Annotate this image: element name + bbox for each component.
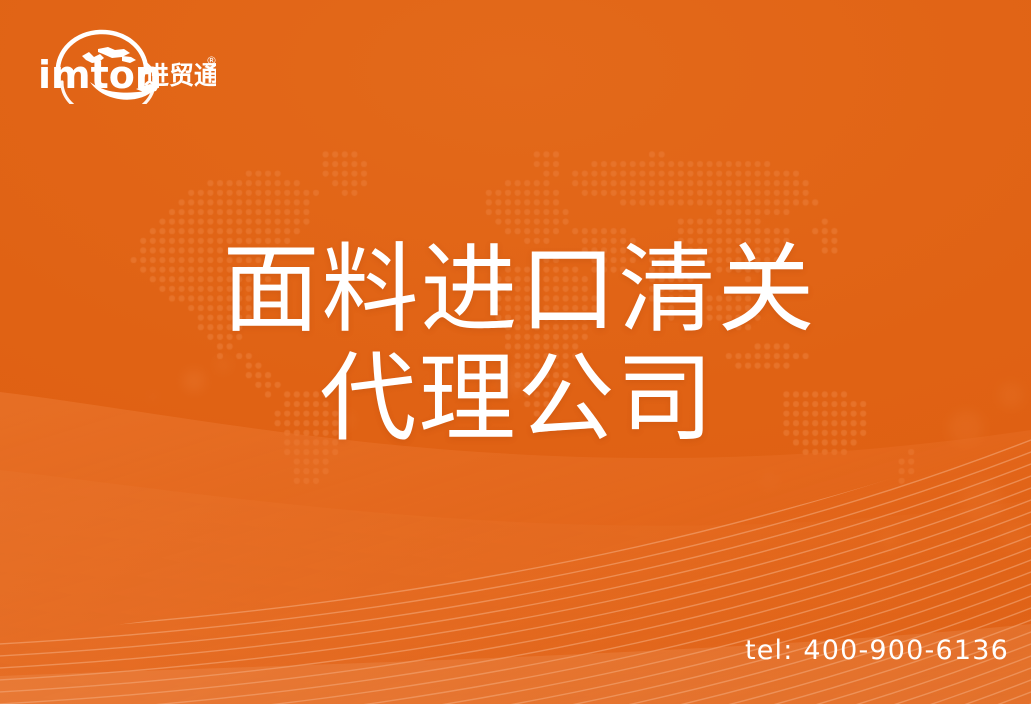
- promotional-banner: imton 进贸通 ® 面料进口清关 代理公司 tel: 400-900-613…: [0, 0, 1031, 704]
- company-logo[interactable]: imton 进贸通 ®: [36, 28, 216, 100]
- headline-line-2: 代理公司: [0, 345, 1031, 454]
- headline-line-1: 面料进口清关: [0, 236, 1031, 345]
- page-title: 面料进口清关 代理公司: [0, 236, 1031, 453]
- trademark-icon: ®: [206, 54, 216, 67]
- contact-telephone[interactable]: tel: 400-900-6136: [745, 635, 1009, 666]
